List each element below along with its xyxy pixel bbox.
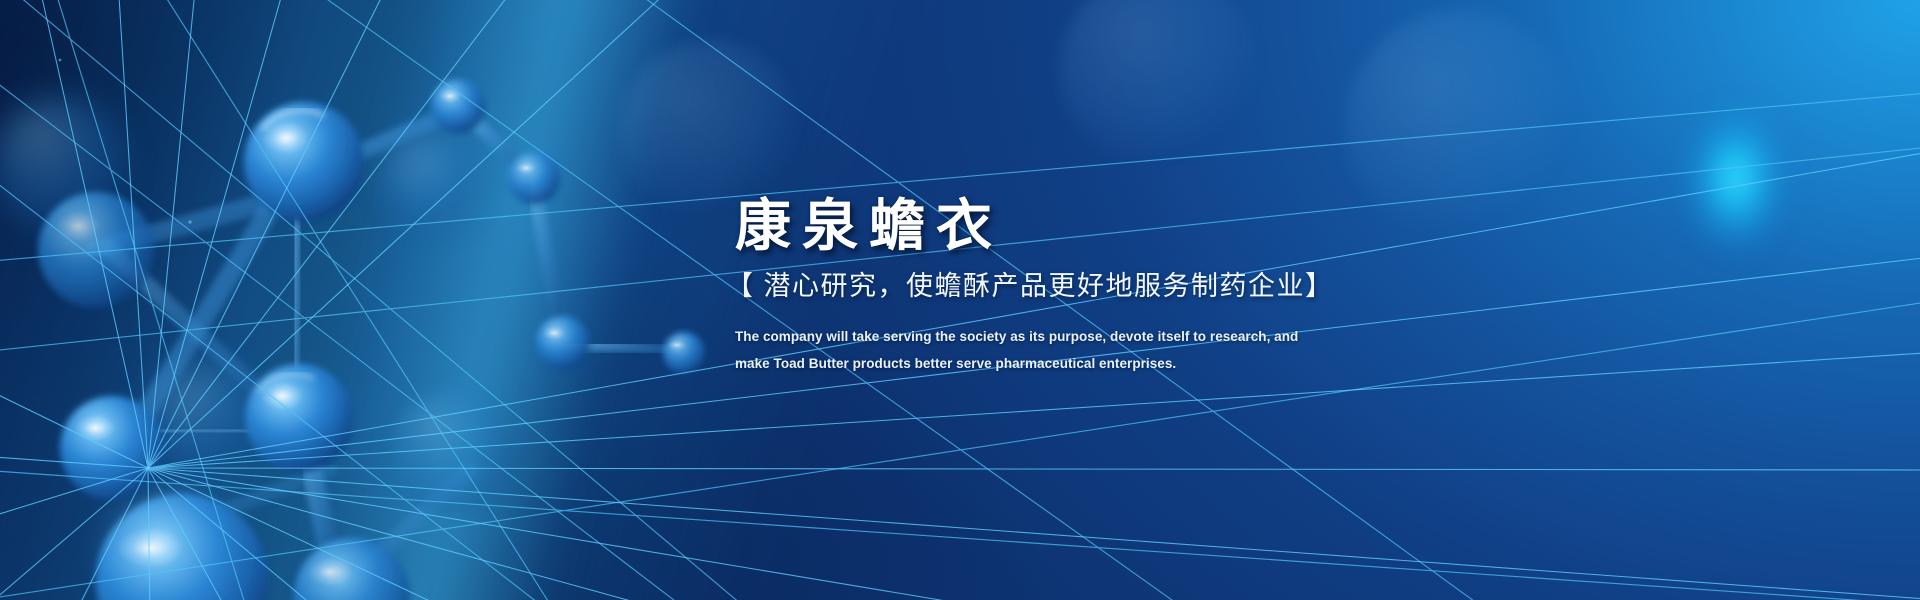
english-tagline: The company will take serving the societ…	[735, 324, 1535, 377]
english-tagline-line-2: make Toad Butter products better serve p…	[735, 351, 1535, 377]
brand-slogan: 【 潜心研究，使蟾酥产品更好地服务制药企业】	[726, 270, 1535, 304]
page-title: 康泉蟾衣	[735, 196, 1535, 256]
network-nodes	[59, 59, 192, 470]
english-tagline-line-1: The company will take serving the societ…	[735, 324, 1535, 350]
banner-text-block: 康泉蟾衣 【 潜心研究，使蟾酥产品更好地服务制药企业】 The company …	[735, 196, 1535, 377]
hero-banner: 康泉蟾衣 【 潜心研究，使蟾酥产品更好地服务制药企业】 The company …	[0, 0, 1920, 600]
